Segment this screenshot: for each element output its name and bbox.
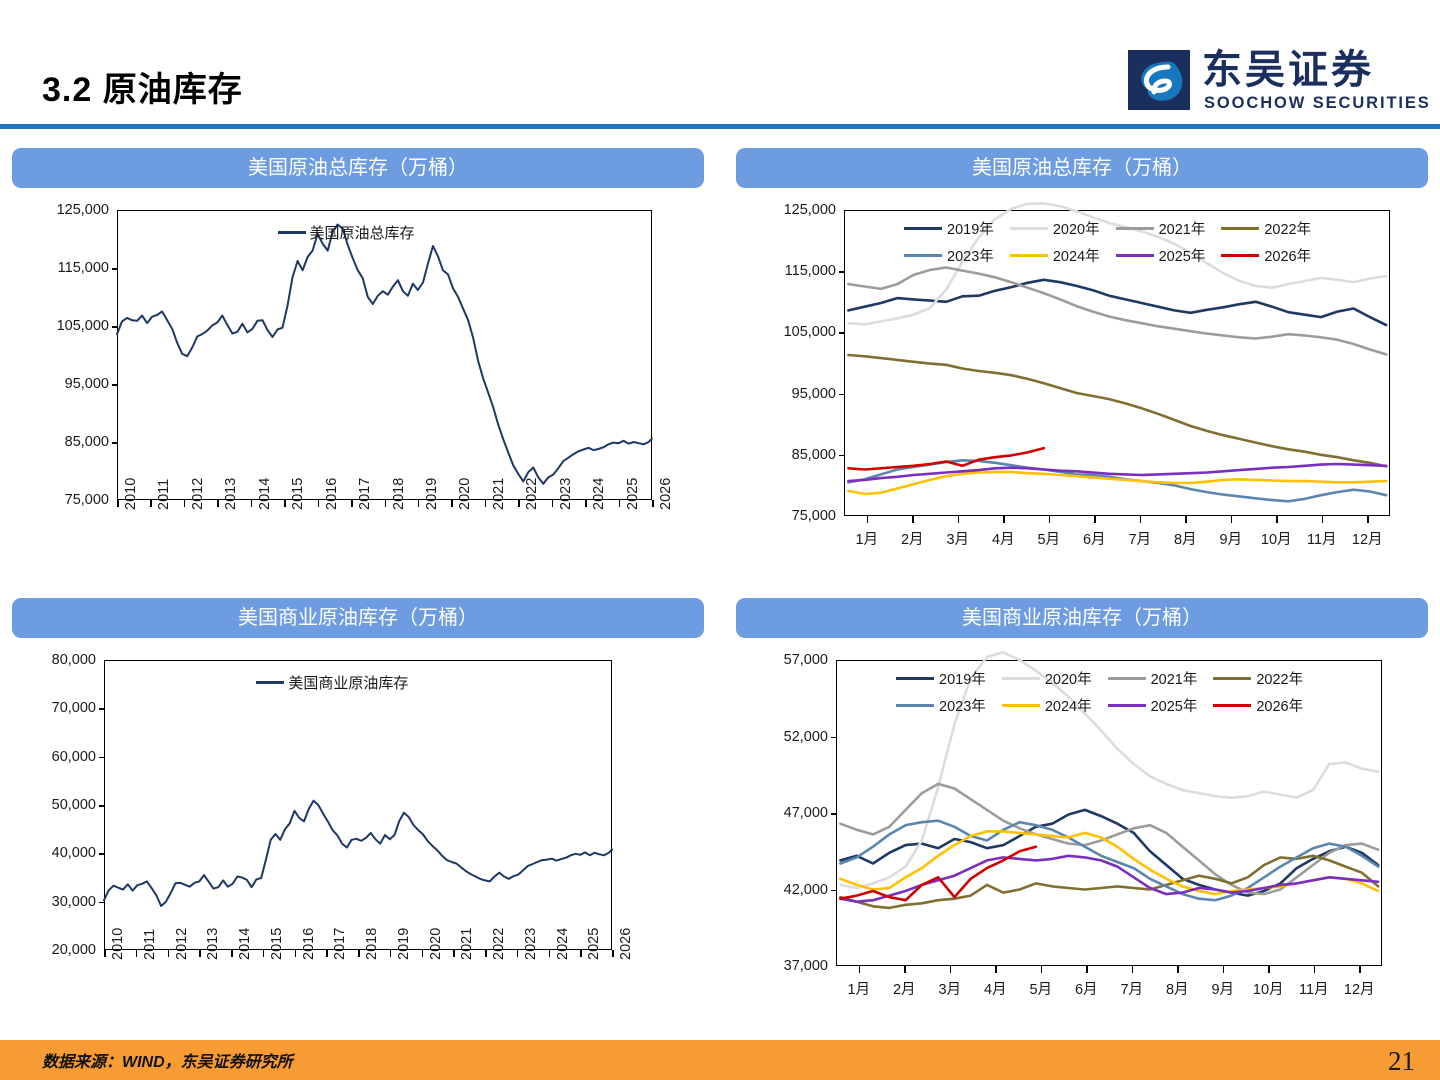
chart-series-layer [12, 638, 704, 1028]
legend-entry: 2022年 [1213, 668, 1303, 689]
series-line [117, 225, 652, 484]
series-line [104, 801, 612, 906]
legend-label: 美国商业原油库存 [288, 672, 408, 693]
panel-title-commercial-crude-seasonal: 美国商业原油库存（万桶） [736, 598, 1428, 638]
panel-commercial-crude-history: 美国商业原油库存（万桶） 20,00030,00040,00050,00060,… [12, 598, 704, 1028]
soochow-logo-mark-icon [1128, 50, 1190, 110]
chart-legend: 美国原油总库存 [278, 222, 415, 243]
legend-label: 2020年 [1045, 668, 1092, 689]
chart-legend: 2019年2020年2021年2022年2023年2024年2025年2026年 [896, 668, 1344, 722]
footer-source-text: 数据来源：WIND，东吴证券研究所 [42, 1048, 293, 1072]
legend-swatch [1002, 677, 1040, 680]
legend-swatch [1116, 254, 1154, 257]
legend-label: 2025年 [1151, 695, 1198, 716]
legend-entry: 2021年 [1116, 218, 1206, 239]
legend-label: 2024年 [1053, 245, 1100, 266]
chart-legend: 美国商业原油库存 [256, 672, 408, 693]
legend-swatch [1221, 254, 1259, 257]
legend-label: 2022年 [1256, 668, 1303, 689]
legend-swatch [256, 681, 284, 684]
panel-commercial-crude-seasonal: 美国商业原油库存（万桶） 37,00042,00047,00052,00057,… [736, 598, 1428, 1028]
legend-entry: 2021年 [1108, 668, 1198, 689]
legend-entry: 2023年 [904, 245, 994, 266]
legend-swatch [896, 704, 934, 707]
header-divider [0, 124, 1440, 129]
legend-entry: 2020年 [1002, 668, 1092, 689]
legend-label: 2026年 [1256, 695, 1303, 716]
legend-swatch [1221, 227, 1259, 230]
brand-logo: 东吴证券 SOOCHOW SECURITIES [1128, 48, 1418, 114]
panel-title-total-crude-history: 美国原油总库存（万桶） [12, 148, 704, 188]
legend-entry: 2022年 [1221, 218, 1311, 239]
legend-label: 2019年 [947, 218, 994, 239]
legend-swatch [1108, 704, 1146, 707]
legend-swatch [904, 254, 942, 257]
chart-legend: 2019年2020年2021年2022年2023年2024年2025年2026年 [904, 218, 1352, 272]
chart-commercial-crude-history: 20,00030,00040,00050,00060,00070,00080,0… [12, 638, 704, 1028]
legend-swatch [1002, 704, 1040, 707]
logo-chinese-name: 东吴证券 [1202, 48, 1374, 92]
legend-label: 2020年 [1053, 218, 1100, 239]
legend-swatch [896, 677, 934, 680]
legend-swatch [1213, 704, 1251, 707]
series-line [840, 856, 1378, 902]
legend-entry: 2025年 [1108, 695, 1198, 716]
legend-entry: 2019年 [896, 668, 986, 689]
legend-label: 2023年 [947, 245, 994, 266]
legend-label: 2023年 [939, 695, 986, 716]
legend-swatch [278, 231, 306, 234]
series-line [848, 355, 1386, 466]
legend-swatch [1010, 227, 1048, 230]
legend-entry: 2026年 [1221, 245, 1311, 266]
slide-header: 3.2 原油库存 东吴证券 SOOCHOW SECURITIES [0, 0, 1440, 128]
legend-swatch [1116, 227, 1154, 230]
legend-label: 2019年 [939, 668, 986, 689]
legend-entry: 2024年 [1010, 245, 1100, 266]
panel-total-crude-history: 美国原油总库存（万桶） 75,00085,00095,000105,000115… [12, 148, 704, 578]
chart-series-layer [12, 188, 704, 578]
chart-total-crude-history: 75,00085,00095,000105,000115,000125,0002… [12, 188, 704, 578]
page-title: 3.2 原油库存 [42, 62, 243, 111]
legend-swatch [1108, 677, 1146, 680]
legend-entry: 2026年 [1213, 695, 1303, 716]
legend-entry: 2019年 [904, 218, 994, 239]
legend-label: 2021年 [1159, 218, 1206, 239]
chart-total-crude-seasonal: 75,00085,00095,000105,000115,000125,0001… [736, 188, 1428, 578]
legend-label: 美国原油总库存 [310, 222, 415, 243]
legend-entry: 2023年 [896, 695, 986, 716]
legend-label: 2024年 [1045, 695, 1092, 716]
legend-entry: 2020年 [1010, 218, 1100, 239]
legend-label: 2021年 [1151, 668, 1198, 689]
panel-title-commercial-crude-history: 美国商业原油库存（万桶） [12, 598, 704, 638]
panel-total-crude-seasonal: 美国原油总库存（万桶） 75,00085,00095,000105,000115… [736, 148, 1428, 578]
chart-commercial-crude-seasonal: 37,00042,00047,00052,00057,0001月2月3月4月5月… [736, 638, 1428, 1028]
legend-swatch [1213, 677, 1251, 680]
page-number: 21 [1388, 1046, 1415, 1077]
legend-swatch [1010, 254, 1048, 257]
logo-english-name: SOOCHOW SECURITIES [1204, 94, 1431, 113]
legend-swatch [904, 227, 942, 230]
panel-title-total-crude-seasonal: 美国原油总库存（万桶） [736, 148, 1428, 188]
legend-entry: 2024年 [1002, 695, 1092, 716]
legend-label: 2026年 [1264, 245, 1311, 266]
legend-entry: 2025年 [1116, 245, 1206, 266]
legend-label: 2022年 [1264, 218, 1311, 239]
legend-label: 2025年 [1159, 245, 1206, 266]
